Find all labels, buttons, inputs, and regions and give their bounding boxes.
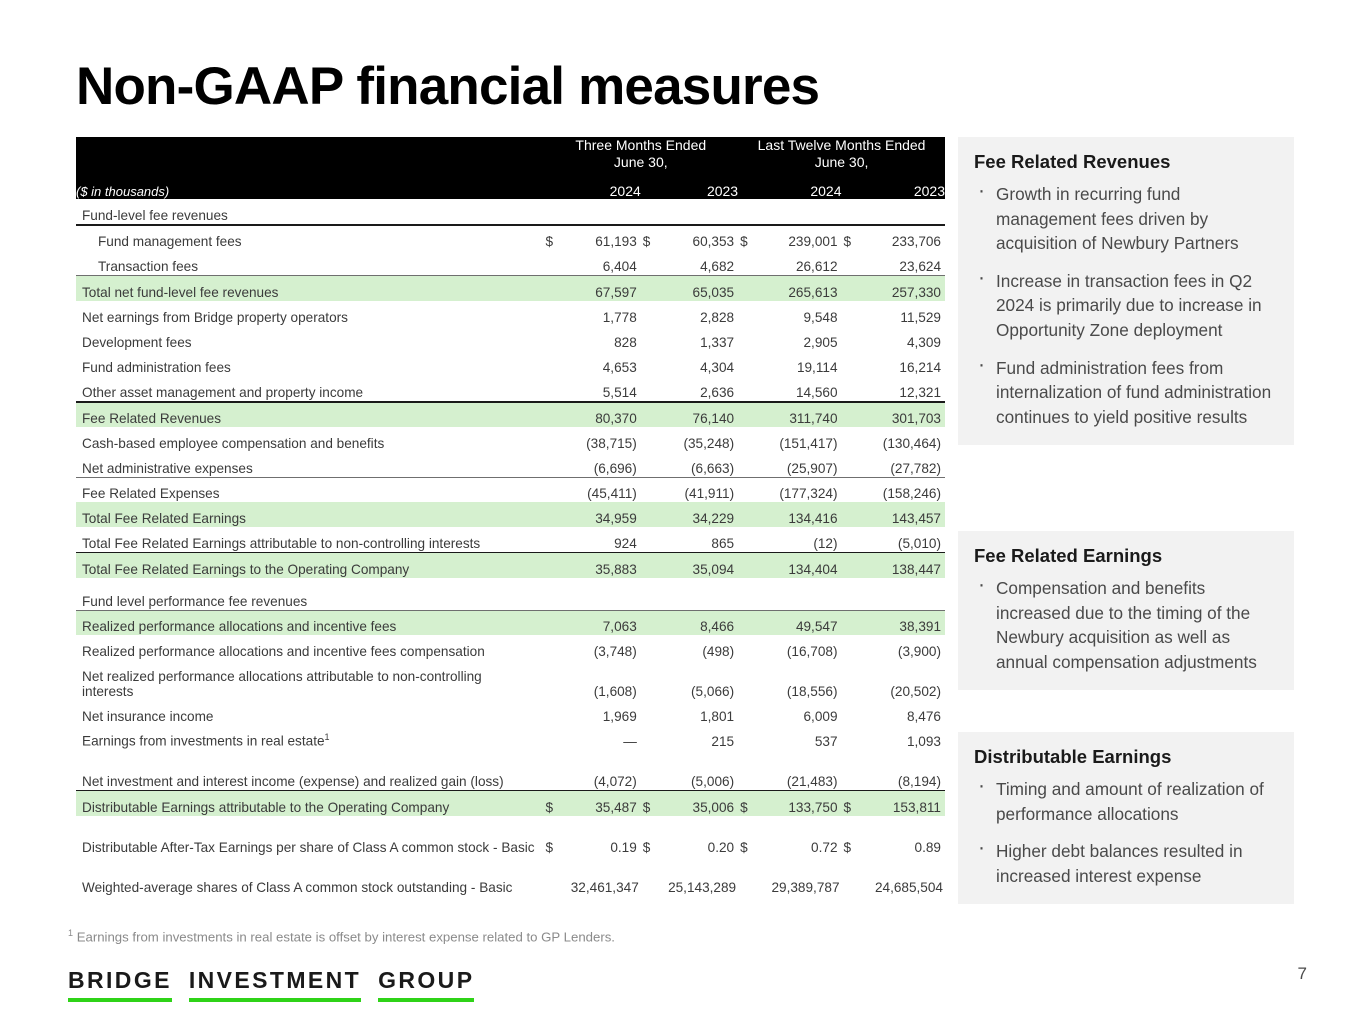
table-row: Other asset management and property inco… — [76, 376, 945, 401]
row-value: 25,143,289 — [663, 856, 738, 896]
header-year-cur-1 — [641, 183, 663, 199]
row-value: 23,624 — [864, 250, 945, 275]
header-year-0: 2024 — [566, 183, 641, 199]
row-value: 239,001 — [760, 225, 841, 250]
panel-title: Fee Related Revenues — [974, 151, 1278, 173]
table-row: Development fees8281,3372,9054,309 — [76, 326, 945, 351]
row-value: (20,502) — [864, 660, 945, 700]
row-currency-symbol — [641, 635, 663, 660]
header-year-2: 2024 — [760, 183, 841, 199]
list-item: Compensation and benefits increased due … — [974, 576, 1278, 674]
header-group-last-twelve-months: Last Twelve Months Ended June 30, — [738, 137, 945, 171]
row-value: 35,883 — [566, 553, 641, 578]
row-currency-symbol — [842, 326, 864, 351]
row-currency-symbol — [738, 660, 760, 700]
row-currency-symbol — [543, 477, 565, 502]
row-currency-symbol — [543, 301, 565, 326]
row-value: (151,417) — [760, 427, 841, 452]
row-value: 1,969 — [566, 700, 641, 725]
table-header: Three Months Ended June 30, Last Twelve … — [76, 137, 945, 199]
row-value: 0.19 — [566, 816, 641, 856]
row-label: Total Fee Related Earnings — [76, 502, 543, 527]
row-value: 138,447 — [864, 553, 945, 578]
row-currency-symbol — [641, 660, 663, 700]
row-currency-symbol: $ — [842, 816, 864, 856]
row-value: 65,035 — [663, 276, 738, 301]
row-currency-symbol — [842, 276, 864, 301]
row-value: (3,748) — [566, 635, 641, 660]
row-currency-symbol — [543, 553, 565, 578]
row-value: (5,066) — [663, 660, 738, 700]
row-value — [566, 199, 641, 224]
row-currency-symbol — [641, 553, 663, 578]
row-currency-symbol — [738, 276, 760, 301]
table-row: Fund administration fees4,6534,30419,114… — [76, 351, 945, 376]
row-value — [663, 199, 738, 224]
row-currency-symbol — [738, 199, 760, 224]
row-currency-symbol — [842, 700, 864, 725]
row-label: Realized performance allocations and inc… — [76, 635, 543, 660]
row-value: 134,404 — [760, 553, 841, 578]
row-currency-symbol — [842, 301, 864, 326]
row-currency-symbol — [641, 856, 663, 896]
row-value: (12) — [760, 527, 841, 552]
table-row: Total Fee Related Earnings attributable … — [76, 527, 945, 552]
row-value: (21,483) — [760, 750, 841, 790]
table-body: Fund-level fee revenuesFund management f… — [76, 199, 945, 896]
row-currency-symbol — [842, 610, 864, 635]
row-value: 4,653 — [566, 351, 641, 376]
header-group-line1: Three Months Ended — [575, 137, 706, 153]
footnote: 1 Earnings from investments in real esta… — [68, 928, 615, 944]
footnote-text: Earnings from investments in real estate… — [77, 929, 615, 944]
row-currency-symbol — [842, 502, 864, 527]
row-value: 14,560 — [760, 376, 841, 401]
row-currency-symbol — [543, 660, 565, 700]
table-row: Total Fee Related Earnings34,95934,22913… — [76, 502, 945, 527]
row-value: 2,636 — [663, 376, 738, 401]
row-value: 6,404 — [566, 250, 641, 275]
header-group-line2: June 30, — [614, 154, 668, 170]
row-currency-symbol — [842, 553, 864, 578]
table-header-periods: Three Months Ended June 30, Last Twelve … — [76, 137, 945, 171]
row-value: 11,529 — [864, 301, 945, 326]
list-item: Fund administration fees from internaliz… — [974, 356, 1278, 430]
row-currency-symbol — [842, 402, 864, 427]
table-row: Transaction fees6,4044,68226,61223,624 — [76, 250, 945, 275]
row-value: 60,353 — [663, 225, 738, 250]
row-currency-symbol — [738, 301, 760, 326]
table-row: Fee Related Revenues80,37076,140311,7403… — [76, 402, 945, 427]
header-year-cur-3 — [842, 183, 864, 199]
panel-bullet-list: Growth in recurring fund management fees… — [974, 182, 1278, 429]
table-header-years: ($ in thousands) 2024 2023 2024 2023 — [76, 183, 945, 199]
row-value: — — [566, 725, 641, 750]
row-currency-symbol — [738, 553, 760, 578]
row-currency-symbol — [842, 635, 864, 660]
row-currency-symbol — [641, 301, 663, 326]
row-currency-symbol — [738, 351, 760, 376]
table-gap — [76, 578, 945, 585]
row-value: 0.72 — [760, 816, 841, 856]
row-value — [864, 585, 945, 610]
row-currency-symbol — [543, 427, 565, 452]
row-value: 865 — [663, 527, 738, 552]
row-value: 80,370 — [566, 402, 641, 427]
header-year-3-text: 2023 — [914, 183, 945, 201]
row-currency-symbol — [738, 856, 760, 896]
row-value: 1,093 — [864, 725, 945, 750]
panel-bullet-list: Timing and amount of realization of perf… — [974, 777, 1278, 888]
table-row: Net administrative expenses(6,696)(6,663… — [76, 452, 945, 477]
row-value: 265,613 — [760, 276, 841, 301]
row-currency-symbol — [738, 700, 760, 725]
row-value: 2,828 — [663, 301, 738, 326]
table-row: Earnings from investments in real estate… — [76, 725, 945, 750]
slide-root: Non-GAAP financial measures Three Months… — [0, 0, 1365, 1024]
row-currency-symbol — [641, 427, 663, 452]
list-item: Growth in recurring fund management fees… — [974, 182, 1278, 256]
row-currency-symbol — [842, 477, 864, 502]
row-currency-symbol — [738, 402, 760, 427]
row-value: (3,900) — [864, 635, 945, 660]
row-currency-symbol — [543, 527, 565, 552]
row-currency-symbol — [543, 250, 565, 275]
bridge-investment-group-logo: BRIDGE INVESTMENT GROUP — [68, 968, 474, 1002]
row-value: 35,006 — [663, 791, 738, 816]
row-value: 7,063 — [566, 610, 641, 635]
row-currency-symbol — [842, 376, 864, 401]
row-value: (6,663) — [663, 452, 738, 477]
row-label: Net insurance income — [76, 700, 543, 725]
panel-title: Distributable Earnings — [974, 746, 1278, 768]
row-value: 26,612 — [760, 250, 841, 275]
header-group-line2: June 30, — [815, 154, 869, 170]
row-value: 4,304 — [663, 351, 738, 376]
row-value: 61,193 — [566, 225, 641, 250]
table-row: Total Fee Related Earnings to the Operat… — [76, 553, 945, 578]
row-currency-symbol — [543, 585, 565, 610]
row-value: 2,905 — [760, 326, 841, 351]
row-label-superscript: 1 — [325, 732, 330, 742]
row-currency-symbol — [842, 199, 864, 224]
row-value: 0.20 — [663, 816, 738, 856]
row-currency-symbol — [842, 585, 864, 610]
row-value — [760, 199, 841, 224]
row-value: 76,140 — [663, 402, 738, 427]
table-gap-cell — [76, 578, 945, 585]
row-currency-symbol: $ — [641, 791, 663, 816]
header-group-three-months: Three Months Ended June 30, — [543, 137, 738, 171]
logo-word-bridge: BRIDGE — [68, 968, 172, 1002]
row-currency-symbol — [842, 527, 864, 552]
row-value — [864, 199, 945, 224]
row-currency-symbol — [738, 750, 760, 790]
row-currency-symbol — [842, 250, 864, 275]
row-currency-symbol — [641, 351, 663, 376]
row-currency-symbol — [641, 276, 663, 301]
row-label: Fee Related Revenues — [76, 402, 543, 427]
commentary-panel-fee-related-earnings: Fee Related Earnings Compensation and be… — [958, 531, 1294, 690]
panel-title: Fee Related Earnings — [974, 545, 1278, 567]
row-value: 133,750 — [760, 791, 841, 816]
row-value: 19,114 — [760, 351, 841, 376]
row-currency-symbol — [543, 610, 565, 635]
row-currency-symbol — [738, 585, 760, 610]
row-currency-symbol — [641, 326, 663, 351]
row-value: 1,801 — [663, 700, 738, 725]
row-value: (41,911) — [663, 477, 738, 502]
table-row: Cash-based employee compensation and ben… — [76, 427, 945, 452]
table-row: Distributable Earnings attributable to t… — [76, 791, 945, 816]
row-value: 4,309 — [864, 326, 945, 351]
row-value: 143,457 — [864, 502, 945, 527]
row-label: Fund level performance fee revenues — [76, 585, 543, 610]
row-value: 828 — [566, 326, 641, 351]
table-row: Total net fund-level fee revenues67,5976… — [76, 276, 945, 301]
row-value: 35,487 — [566, 791, 641, 816]
header-group-line1: Last Twelve Months Ended — [758, 137, 926, 153]
row-currency-symbol — [738, 477, 760, 502]
row-label: Weighted-average shares of Class A commo… — [76, 856, 543, 896]
row-value: 257,330 — [864, 276, 945, 301]
row-value: (498) — [663, 635, 738, 660]
row-value: (4,072) — [566, 750, 641, 790]
row-currency-symbol — [738, 452, 760, 477]
row-value: 35,094 — [663, 553, 738, 578]
header-spacer-cell — [76, 171, 945, 183]
row-currency-symbol — [842, 351, 864, 376]
row-currency-symbol — [738, 376, 760, 401]
row-label: Total Fee Related Earnings attributable … — [76, 527, 543, 552]
row-currency-symbol — [641, 402, 663, 427]
header-year-3: 2023 — [864, 183, 945, 199]
row-currency-symbol: $ — [641, 225, 663, 250]
row-currency-symbol — [842, 750, 864, 790]
row-currency-symbol — [842, 660, 864, 700]
row-value: (158,246) — [864, 477, 945, 502]
row-label: Fund-level fee revenues — [76, 199, 543, 224]
row-value: (27,782) — [864, 452, 945, 477]
row-value: (5,010) — [864, 527, 945, 552]
row-label: Net earnings from Bridge property operat… — [76, 301, 543, 326]
row-value: (35,248) — [663, 427, 738, 452]
commentary-panel-distributable-earnings: Distributable Earnings Timing and amount… — [958, 732, 1294, 904]
row-currency-symbol — [543, 402, 565, 427]
row-value: (177,324) — [760, 477, 841, 502]
header-year-2-text: 2024 — [810, 183, 841, 201]
header-spacer-row — [76, 171, 945, 183]
row-value: 32,461,347 — [566, 856, 641, 896]
row-currency-symbol — [641, 199, 663, 224]
row-currency-symbol — [543, 326, 565, 351]
row-value: 5,514 — [566, 376, 641, 401]
header-year-1: 2023 — [663, 183, 738, 199]
row-currency-symbol — [543, 856, 565, 896]
list-item: Increase in transaction fees in Q2 2024 … — [974, 269, 1278, 343]
row-currency-symbol — [641, 610, 663, 635]
row-value: 38,391 — [864, 610, 945, 635]
row-label: Fund management fees — [76, 225, 543, 250]
row-value: 1,337 — [663, 326, 738, 351]
page-number: 7 — [1298, 964, 1307, 984]
row-label: Fee Related Expenses — [76, 477, 543, 502]
row-value: 153,811 — [864, 791, 945, 816]
row-value: (38,715) — [566, 427, 641, 452]
row-value: 67,597 — [566, 276, 641, 301]
table-row: Weighted-average shares of Class A commo… — [76, 856, 945, 896]
header-year-cur-2 — [738, 183, 760, 199]
row-value — [760, 585, 841, 610]
row-currency-symbol — [543, 635, 565, 660]
list-item: Higher debt balances resulted in increas… — [974, 839, 1278, 888]
row-label: Cash-based employee compensation and ben… — [76, 427, 543, 452]
row-value: 233,706 — [864, 225, 945, 250]
footnote-marker: 1 — [68, 928, 73, 938]
row-currency-symbol — [543, 502, 565, 527]
header-year-cur-0 — [543, 183, 565, 199]
row-label: Earnings from investments in real estate… — [76, 725, 543, 750]
row-currency-symbol — [738, 427, 760, 452]
row-currency-symbol: $ — [842, 791, 864, 816]
table-row: Fund level performance fee revenues — [76, 585, 945, 610]
row-currency-symbol — [543, 351, 565, 376]
row-value: (1,608) — [566, 660, 641, 700]
row-currency-symbol — [641, 725, 663, 750]
row-label: Net realized performance allocations att… — [76, 660, 543, 700]
header-blank-cell — [76, 137, 543, 171]
row-value: 1,778 — [566, 301, 641, 326]
table-row: Fund-level fee revenues — [76, 199, 945, 224]
row-currency-symbol — [842, 427, 864, 452]
row-label: Total Fee Related Earnings to the Operat… — [76, 553, 543, 578]
row-currency-symbol: $ — [738, 225, 760, 250]
row-value: 311,740 — [760, 402, 841, 427]
row-value: 301,703 — [864, 402, 945, 427]
row-currency-symbol — [641, 527, 663, 552]
row-currency-symbol: $ — [543, 791, 565, 816]
table-row: Net realized performance allocations att… — [76, 660, 945, 700]
row-currency-symbol — [543, 725, 565, 750]
row-currency-symbol — [641, 750, 663, 790]
logo-word-investment: INVESTMENT — [189, 968, 361, 1002]
row-currency-symbol: $ — [738, 791, 760, 816]
table-row: Net insurance income1,9691,8016,0098,476 — [76, 700, 945, 725]
row-currency-symbol — [641, 452, 663, 477]
row-currency-symbol — [641, 477, 663, 502]
row-currency-symbol — [738, 725, 760, 750]
header-year-0-text: 2024 — [610, 183, 641, 201]
commentary-panel-fee-related-revenues: Fee Related Revenues Growth in recurring… — [958, 137, 1294, 445]
row-currency-symbol: $ — [543, 816, 565, 856]
row-currency-symbol: $ — [738, 816, 760, 856]
row-value: (5,006) — [663, 750, 738, 790]
row-value: 34,959 — [566, 502, 641, 527]
row-value: 49,547 — [760, 610, 841, 635]
row-value: 9,548 — [760, 301, 841, 326]
row-currency-symbol — [543, 276, 565, 301]
row-currency-symbol — [641, 502, 663, 527]
row-label: Other asset management and property inco… — [76, 376, 543, 401]
table-row: Net investment and interest income (expe… — [76, 750, 945, 790]
row-label: Distributable After-Tax Earnings per sha… — [76, 816, 543, 856]
row-value: 6,009 — [760, 700, 841, 725]
row-value: 34,229 — [663, 502, 738, 527]
row-currency-symbol — [842, 725, 864, 750]
row-value: 924 — [566, 527, 641, 552]
row-label: Net administrative expenses — [76, 452, 543, 477]
row-currency-symbol: $ — [641, 816, 663, 856]
row-value: 24,685,504 — [864, 856, 945, 896]
row-label: Total net fund-level fee revenues — [76, 276, 543, 301]
non-gaap-financial-table: Three Months Ended June 30, Last Twelve … — [76, 137, 945, 896]
row-label: Distributable Earnings attributable to t… — [76, 791, 543, 816]
row-value: 134,416 — [760, 502, 841, 527]
row-label: Development fees — [76, 326, 543, 351]
row-value: (16,708) — [760, 635, 841, 660]
header-year-1-text: 2023 — [707, 183, 738, 201]
row-currency-symbol — [738, 527, 760, 552]
row-currency-symbol — [738, 502, 760, 527]
row-value: 16,214 — [864, 351, 945, 376]
row-label: Fund administration fees — [76, 351, 543, 376]
row-value: 4,682 — [663, 250, 738, 275]
row-value: 8,466 — [663, 610, 738, 635]
table-row: Realized performance allocations and inc… — [76, 610, 945, 635]
row-currency-symbol — [543, 700, 565, 725]
row-currency-symbol: $ — [543, 225, 565, 250]
list-item: Timing and amount of realization of perf… — [974, 777, 1278, 826]
row-value: (6,696) — [566, 452, 641, 477]
panel-bullet-list: Compensation and benefits increased due … — [974, 576, 1278, 674]
financial-table-container: Three Months Ended June 30, Last Twelve … — [76, 137, 945, 896]
row-currency-symbol — [543, 376, 565, 401]
row-value: 29,389,787 — [760, 856, 841, 896]
row-value: (18,556) — [760, 660, 841, 700]
row-currency-symbol — [543, 452, 565, 477]
row-label: Net investment and interest income (expe… — [76, 750, 543, 790]
row-currency-symbol — [543, 199, 565, 224]
row-label: Realized performance allocations and inc… — [76, 610, 543, 635]
row-value: 0.89 — [864, 816, 945, 856]
row-value — [566, 585, 641, 610]
row-currency-symbol — [641, 376, 663, 401]
row-currency-symbol — [641, 700, 663, 725]
row-value: (130,464) — [864, 427, 945, 452]
row-currency-symbol — [738, 635, 760, 660]
page-title: Non-GAAP financial measures — [76, 56, 819, 117]
row-currency-symbol — [641, 250, 663, 275]
row-value: 537 — [760, 725, 841, 750]
row-value — [663, 585, 738, 610]
row-value: 12,321 — [864, 376, 945, 401]
row-currency-symbol — [738, 250, 760, 275]
table-row: Net earnings from Bridge property operat… — [76, 301, 945, 326]
row-currency-symbol — [738, 326, 760, 351]
row-value: 215 — [663, 725, 738, 750]
row-value: (25,907) — [760, 452, 841, 477]
table-row: Fund management fees$61,193$60,353$239,0… — [76, 225, 945, 250]
logo-word-group: GROUP — [378, 968, 474, 1002]
table-row: Realized performance allocations and inc… — [76, 635, 945, 660]
table-row: Fee Related Expenses(45,411)(41,911)(177… — [76, 477, 945, 502]
row-value: (45,411) — [566, 477, 641, 502]
row-currency-symbol — [543, 750, 565, 790]
table-row: Distributable After-Tax Earnings per sha… — [76, 816, 945, 856]
row-currency-symbol — [738, 610, 760, 635]
row-value: (8,194) — [864, 750, 945, 790]
row-currency-symbol — [842, 856, 864, 896]
